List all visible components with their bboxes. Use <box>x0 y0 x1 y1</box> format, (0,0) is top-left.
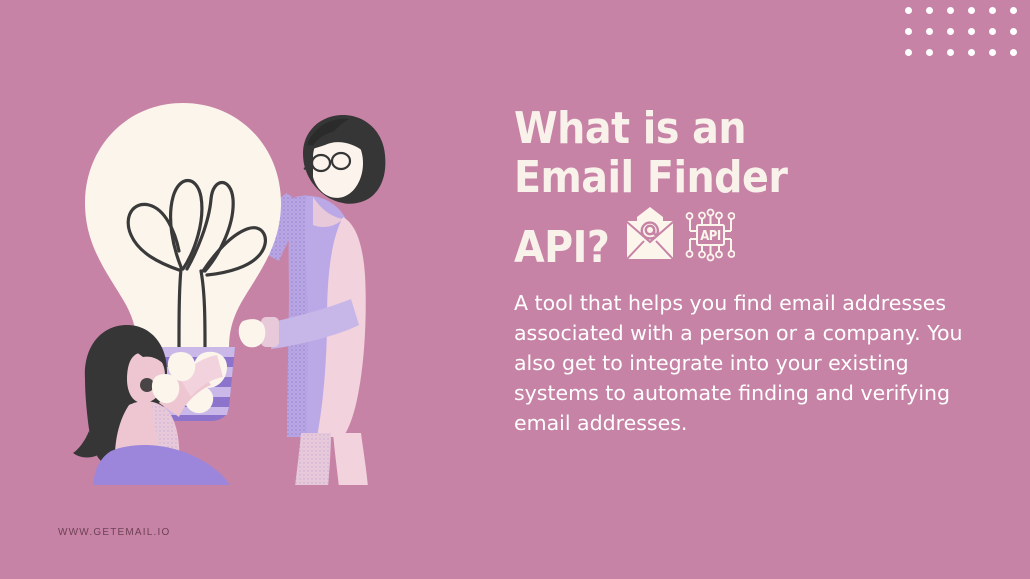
illustration-two-people-lightbulb <box>55 85 415 485</box>
inline-icon-group: API <box>623 225 735 276</box>
headline-line-1: What is an <box>514 104 974 153</box>
decor-dot <box>1010 28 1017 35</box>
page-title: What is an Email Finder API? <box>514 104 974 272</box>
decor-dot <box>989 7 996 14</box>
decor-dot <box>968 28 975 35</box>
bulb-glass <box>85 103 281 349</box>
decor-dot <box>905 28 912 35</box>
headline-line-3: API? <box>514 222 609 273</box>
decor-dot <box>905 7 912 14</box>
decor-dot <box>947 49 954 56</box>
decor-dot <box>947 7 954 14</box>
dot-grid <box>905 7 1020 67</box>
decor-dot <box>1010 7 1017 14</box>
decor-dot <box>926 7 933 14</box>
headline-line-2: Email Finder <box>514 153 974 202</box>
api-chip-label: API <box>700 229 721 244</box>
decor-dot <box>989 28 996 35</box>
kneeling-legs <box>94 445 235 485</box>
decor-dot <box>926 28 933 35</box>
footer-website-url: WWW.GETEMAIL.IO <box>58 527 170 538</box>
decor-dot <box>926 49 933 56</box>
text-column: What is an Email Finder API? <box>514 104 974 272</box>
decor-dot <box>1010 49 1017 56</box>
decor-dot <box>947 28 954 35</box>
decor-dot <box>968 7 975 14</box>
slide-canvas: What is an Email Finder API? <box>0 0 1030 579</box>
decor-dot <box>905 49 912 56</box>
body-description: A tool that helps you find email address… <box>514 288 964 438</box>
decor-dot <box>968 49 975 56</box>
decor-dot <box>989 49 996 56</box>
headline-line-3-row: API? <box>514 202 974 272</box>
